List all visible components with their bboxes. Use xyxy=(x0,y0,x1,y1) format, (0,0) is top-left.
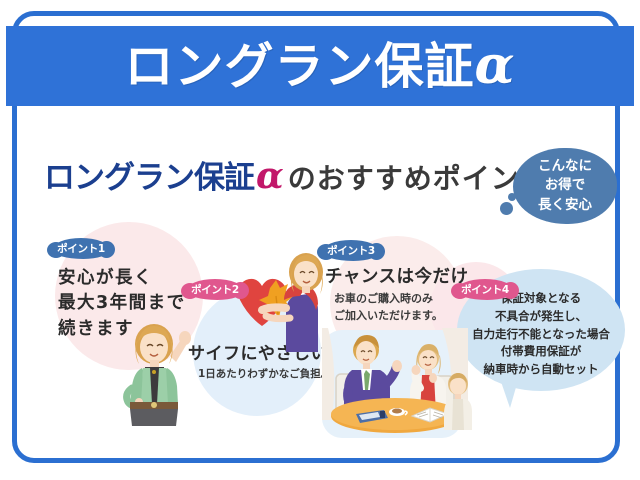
page-title: ロングラン保証α xyxy=(124,40,515,92)
point-1-badge: ポイント1 xyxy=(52,238,110,259)
subtitle-brand: ロングラン保証 xyxy=(44,152,254,197)
point-2-subtext: 1日あたりわずかなご負担。 xyxy=(198,367,331,383)
point-4-badge: ポイント4 xyxy=(456,279,514,300)
page-title-alpha: α xyxy=(475,35,516,96)
top-speech-bubble: こんなに お得で 長く安心 xyxy=(513,148,617,224)
point-4-line-4: 付帯費用保証が xyxy=(457,343,625,361)
point-3-badge: ポイント3 xyxy=(322,240,380,261)
point-3-sub-line-2: ご加入いただけます。 xyxy=(334,307,443,324)
point-4-line-3: 自力走行不能となった場合 xyxy=(457,326,625,344)
top-bubble-line-3: 長く安心 xyxy=(538,196,592,215)
point-3-sub-line-1: お車のご購入時のみ xyxy=(334,290,443,307)
top-bubble-line-1: こんなに xyxy=(538,157,592,176)
subtitle-alpha: α xyxy=(254,155,288,197)
point-4-text: 保証対象となる 不具合が発生し、 自力走行不能となった場合 付帯費用保証が 納車… xyxy=(457,290,625,379)
point-3-subtext: お車のご購入時のみ ご加入いただけます。 xyxy=(334,290,443,324)
subtitle-rest: のおすすめポイント xyxy=(288,157,549,197)
point-3-heading: チャンスは今だけ xyxy=(325,265,468,290)
speech-bubble-tail-dot-large xyxy=(500,202,513,215)
woman-green-cardigan-illustration xyxy=(112,322,200,432)
advertisement-canvas: ロングラン保証α ロングラン保証 α のおすすめポイント こんなに お得で 長く… xyxy=(0,0,640,480)
point-1-line-1: 安心が長く xyxy=(58,266,186,291)
point-1-line-2: 最大3年間まで xyxy=(58,291,186,316)
point-4-line-5: 納車時から自動セット xyxy=(457,361,625,379)
top-bubble-line-2: お得で xyxy=(545,176,586,195)
point-4-line-2: 不具合が発生し、 xyxy=(457,308,625,326)
subtitle: ロングラン保証 α のおすすめポイント xyxy=(44,152,549,197)
small-person-illustration xyxy=(440,372,476,432)
page-title-text: ロングラン保証 xyxy=(124,38,474,95)
point-2-badge: ポイント2 xyxy=(186,279,244,300)
header-band: ロングラン保証α xyxy=(6,26,634,106)
